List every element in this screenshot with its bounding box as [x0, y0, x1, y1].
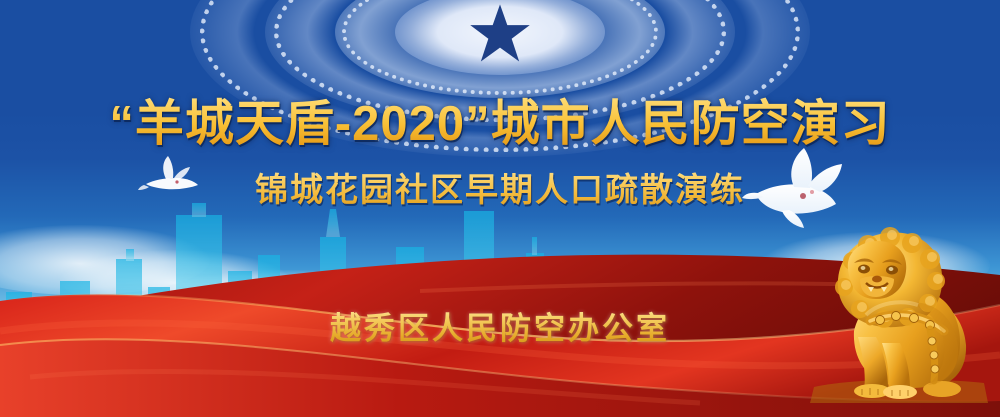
cloud-decoration [760, 232, 990, 298]
radar-dotted-ring-inner [342, 0, 658, 95]
page-subtitle: 锦城花园社区早期人口疏散演练 [0, 163, 1000, 211]
page-title: “羊城天盾-2020”城市人民防空演习 [0, 84, 1000, 155]
organization-name: 越秀区人民防空办公室 [0, 303, 1000, 348]
cloud-decoration [60, 250, 290, 310]
five-pointed-star-icon [469, 4, 531, 64]
civil-defense-drill-banner: “羊城天盾-2020”城市人民防空演习 锦城花园社区早期人口疏散演练 越秀区人民… [0, 0, 1000, 417]
cloud-decoration [0, 225, 210, 295]
radar-core-glow [395, 0, 605, 75]
